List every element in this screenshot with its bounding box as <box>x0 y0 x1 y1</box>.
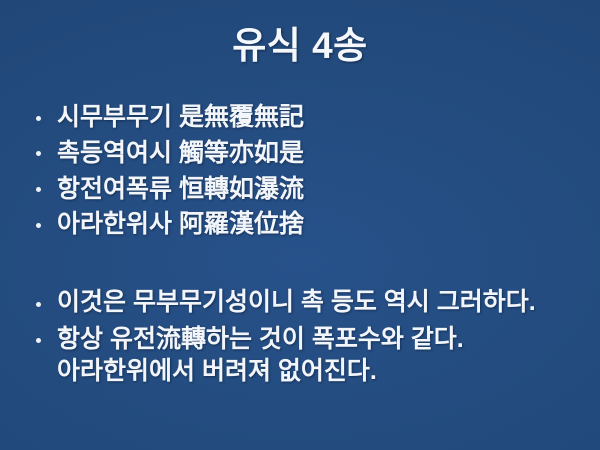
list-item: 항전여폭류 恒轉如瀑流 <box>28 172 576 207</box>
bullet-dot-icon <box>36 338 41 343</box>
list-item-label: 항전여폭류 恒轉如瀑流 <box>57 175 304 203</box>
list-item: 시무부무기 是無覆無記 <box>28 100 576 135</box>
list-item: 촉등역여시 觸等亦如是 <box>28 136 576 171</box>
list-item: 아라한위사 阿羅漢位捨 <box>28 207 576 242</box>
bullet-dot-icon <box>36 223 41 228</box>
list-item-label: 시무부무기 是無覆無記 <box>57 103 304 131</box>
slide-canvas: 유식 4송 시무부무기 是無覆無記 촉등역여시 觸等亦如是 항전여폭류 恒轉如瀑… <box>0 0 600 450</box>
list-item-label: 촉등역여시 觸等亦如是 <box>57 139 304 167</box>
verse-bullet-list: 시무부무기 是無覆無記 촉등역여시 觸等亦如是 항전여폭류 恒轉如瀑流 아라한위… <box>28 100 576 243</box>
list-item-label: 항상 유전流轉하는 것이 폭포수와 같다. 아라한위에서 버려져 없어진다. <box>57 325 464 386</box>
list-item-label: 이것은 무부무기성이니 촉 등도 역시 그러하다. <box>57 288 536 316</box>
slide-body: 시무부무기 是無覆無記 촉등역여시 觸等亦如是 항전여폭류 恒轉如瀑流 아라한위… <box>28 100 576 392</box>
bullet-dot-icon <box>36 116 41 121</box>
list-item-label: 아라한위사 阿羅漢位捨 <box>57 210 304 238</box>
bullet-dot-icon <box>36 187 41 192</box>
prose-bullet-list: 이것은 무부무기성이니 촉 등도 역시 그러하다. 항상 유전流轉하는 것이 폭… <box>28 286 576 388</box>
paragraph-spacer <box>28 243 576 253</box>
list-item: 이것은 무부무기성이니 촉 등도 역시 그러하다. <box>28 286 576 319</box>
page-title: 유식 4송 <box>0 24 600 68</box>
bullet-dot-icon <box>36 302 41 307</box>
list-item: 항상 유전流轉하는 것이 폭포수와 같다. 아라한위에서 버려져 없어진다. <box>28 323 576 388</box>
bullet-dot-icon <box>36 151 41 156</box>
